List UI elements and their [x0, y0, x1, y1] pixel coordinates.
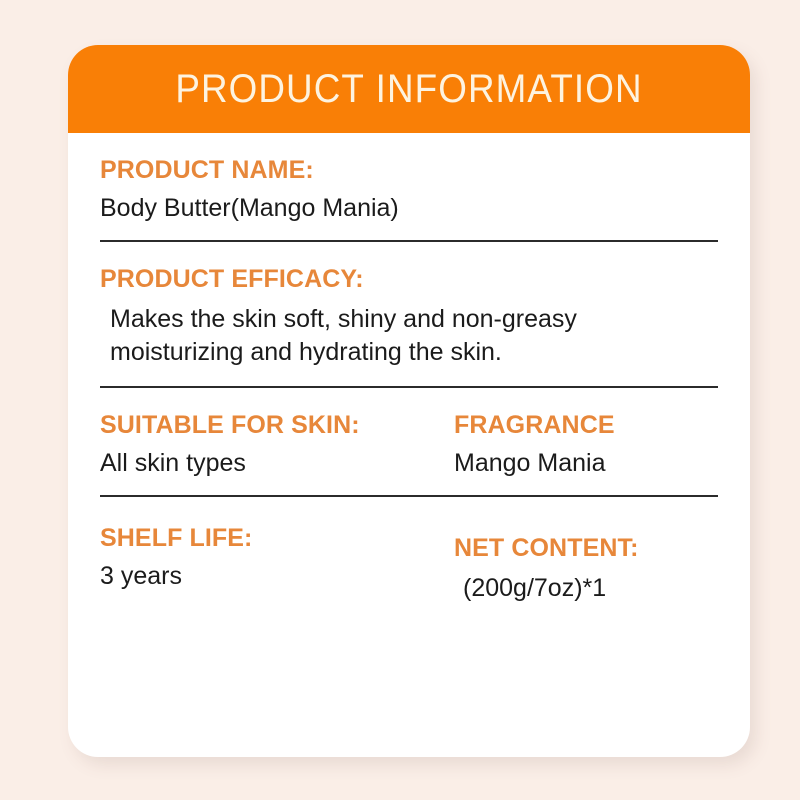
suitable-for-skin-label: SUITABLE FOR SKIN:: [100, 410, 452, 441]
product-name-label: PRODUCT NAME:: [100, 155, 718, 186]
shelf-life-label: SHELF LIFE:: [100, 523, 452, 554]
suitable-for-skin-column: SUITABLE FOR SKIN: All skin types: [100, 410, 452, 479]
shelf-net-columns: SHELF LIFE: 3 years NET CONTENT: (200g/7…: [100, 523, 718, 604]
product-information-card: PRODUCT INFORMATION PRODUCT NAME: Body B…: [68, 45, 750, 757]
fragrance-label: FRAGRANCE: [452, 410, 718, 441]
shelf-life-value: 3 years: [100, 560, 452, 593]
section-product-efficacy: PRODUCT EFFICACY: Makes the skin soft, s…: [100, 242, 718, 388]
shelf-life-column: SHELF LIFE: 3 years: [100, 523, 452, 592]
net-content-label: NET CONTENT:: [452, 533, 718, 564]
product-information-page: PRODUCT INFORMATION PRODUCT NAME: Body B…: [0, 0, 800, 800]
product-name-value: Body Butter(Mango Mania): [100, 192, 718, 225]
product-efficacy-line-2: moisturizing and hydrating the skin.: [110, 336, 718, 370]
section-shelf-net: SHELF LIFE: 3 years NET CONTENT: (200g/7…: [100, 497, 718, 604]
section-product-name: PRODUCT NAME: Body Butter(Mango Mania): [100, 133, 718, 242]
product-efficacy-value: Makes the skin soft, shiny and non-greas…: [100, 303, 718, 371]
skin-fragrance-columns: SUITABLE FOR SKIN: All skin types FRAGRA…: [100, 410, 718, 479]
net-content-column: NET CONTENT: (200g/7oz)*1: [452, 523, 718, 604]
card-header: PRODUCT INFORMATION: [68, 45, 750, 133]
fragrance-column: FRAGRANCE Mango Mania: [452, 410, 718, 479]
product-efficacy-label: PRODUCT EFFICACY:: [100, 264, 718, 295]
card-body: PRODUCT NAME: Body Butter(Mango Mania) P…: [68, 133, 750, 757]
product-efficacy-line-1: Makes the skin soft, shiny and non-greas…: [110, 303, 718, 337]
page-title: PRODUCT INFORMATION: [175, 69, 642, 109]
section-skin-fragrance: SUITABLE FOR SKIN: All skin types FRAGRA…: [100, 388, 718, 497]
suitable-for-skin-value: All skin types: [100, 447, 452, 480]
fragrance-value: Mango Mania: [452, 447, 718, 480]
net-content-value: (200g/7oz)*1: [452, 572, 718, 605]
